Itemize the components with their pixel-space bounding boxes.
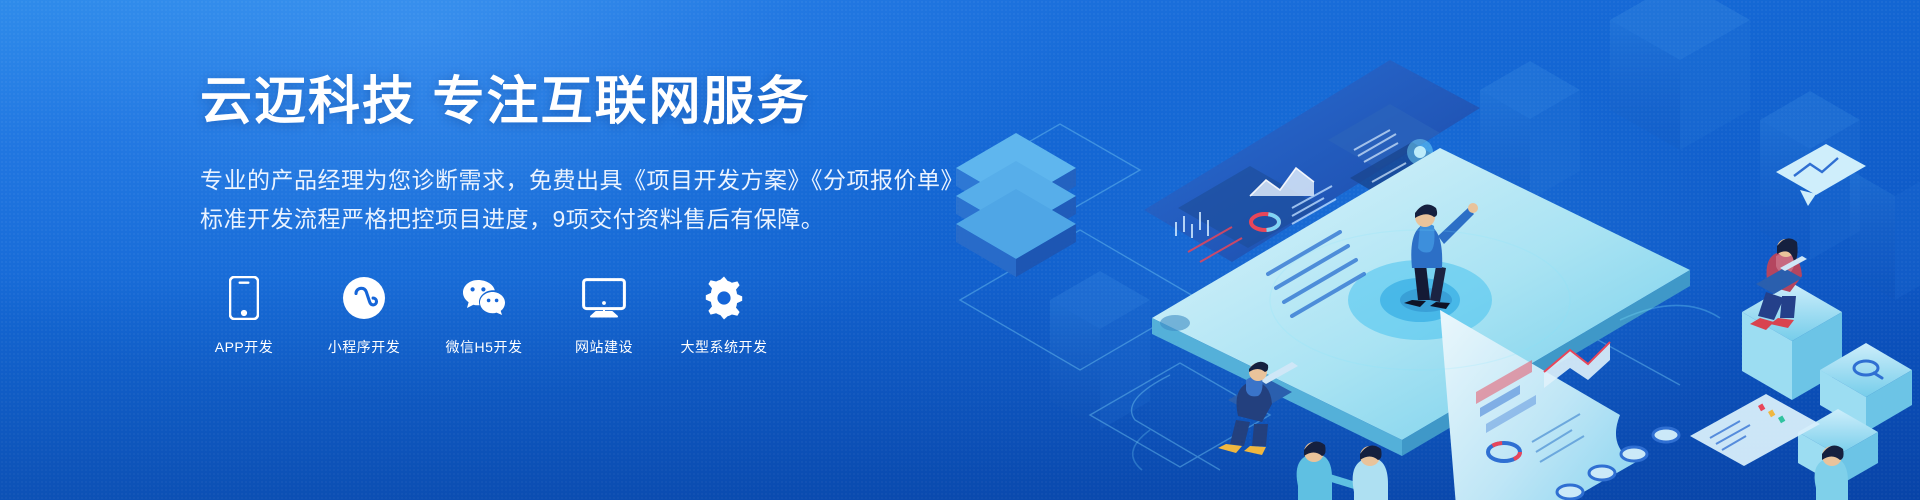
mobile-phone-icon bbox=[221, 275, 267, 321]
page-title: 云迈科技 专注互联网服务 bbox=[200, 70, 960, 135]
service-label: APP开发 bbox=[215, 337, 274, 357]
subtitle-line-2: 标准开发流程严格把控项目进度，9项交付资料售后有保障。 bbox=[200, 200, 960, 239]
subtitle-line-1: 专业的产品经理为您诊断需求，免费出具《项目开发方案》《分项报价单》 bbox=[200, 161, 960, 200]
banner-subtitle: 专业的产品经理为您诊断需求，免费出具《项目开发方案》《分项报价单》 标准开发流程… bbox=[200, 161, 960, 239]
service-label: 小程序开发 bbox=[328, 337, 401, 357]
service-label: 网站建设 bbox=[575, 337, 633, 357]
service-item-app[interactable]: APP开发 bbox=[200, 275, 288, 357]
wechat-icon bbox=[461, 275, 507, 321]
service-label: 大型系统开发 bbox=[681, 337, 768, 357]
service-label: 微信H5开发 bbox=[446, 337, 523, 357]
service-item-wechat-h5[interactable]: 微信H5开发 bbox=[440, 275, 528, 357]
banner-content: 云迈科技 专注互联网服务 专业的产品经理为您诊断需求，免费出具《项目开发方案》《… bbox=[200, 0, 960, 500]
hero-banner: 云迈科技 专注互联网服务 专业的产品经理为您诊断需求，免费出具《项目开发方案》《… bbox=[0, 0, 1920, 500]
service-item-large-system[interactable]: 大型系统开发 bbox=[680, 275, 768, 357]
service-item-miniprogram[interactable]: 小程序开发 bbox=[320, 275, 408, 357]
service-list: APP开发 小程序开发 bbox=[200, 275, 960, 357]
service-item-website[interactable]: 网站建设 bbox=[560, 275, 648, 357]
monitor-icon bbox=[581, 275, 627, 321]
gear-icon bbox=[701, 275, 747, 321]
mini-program-icon bbox=[341, 275, 387, 321]
